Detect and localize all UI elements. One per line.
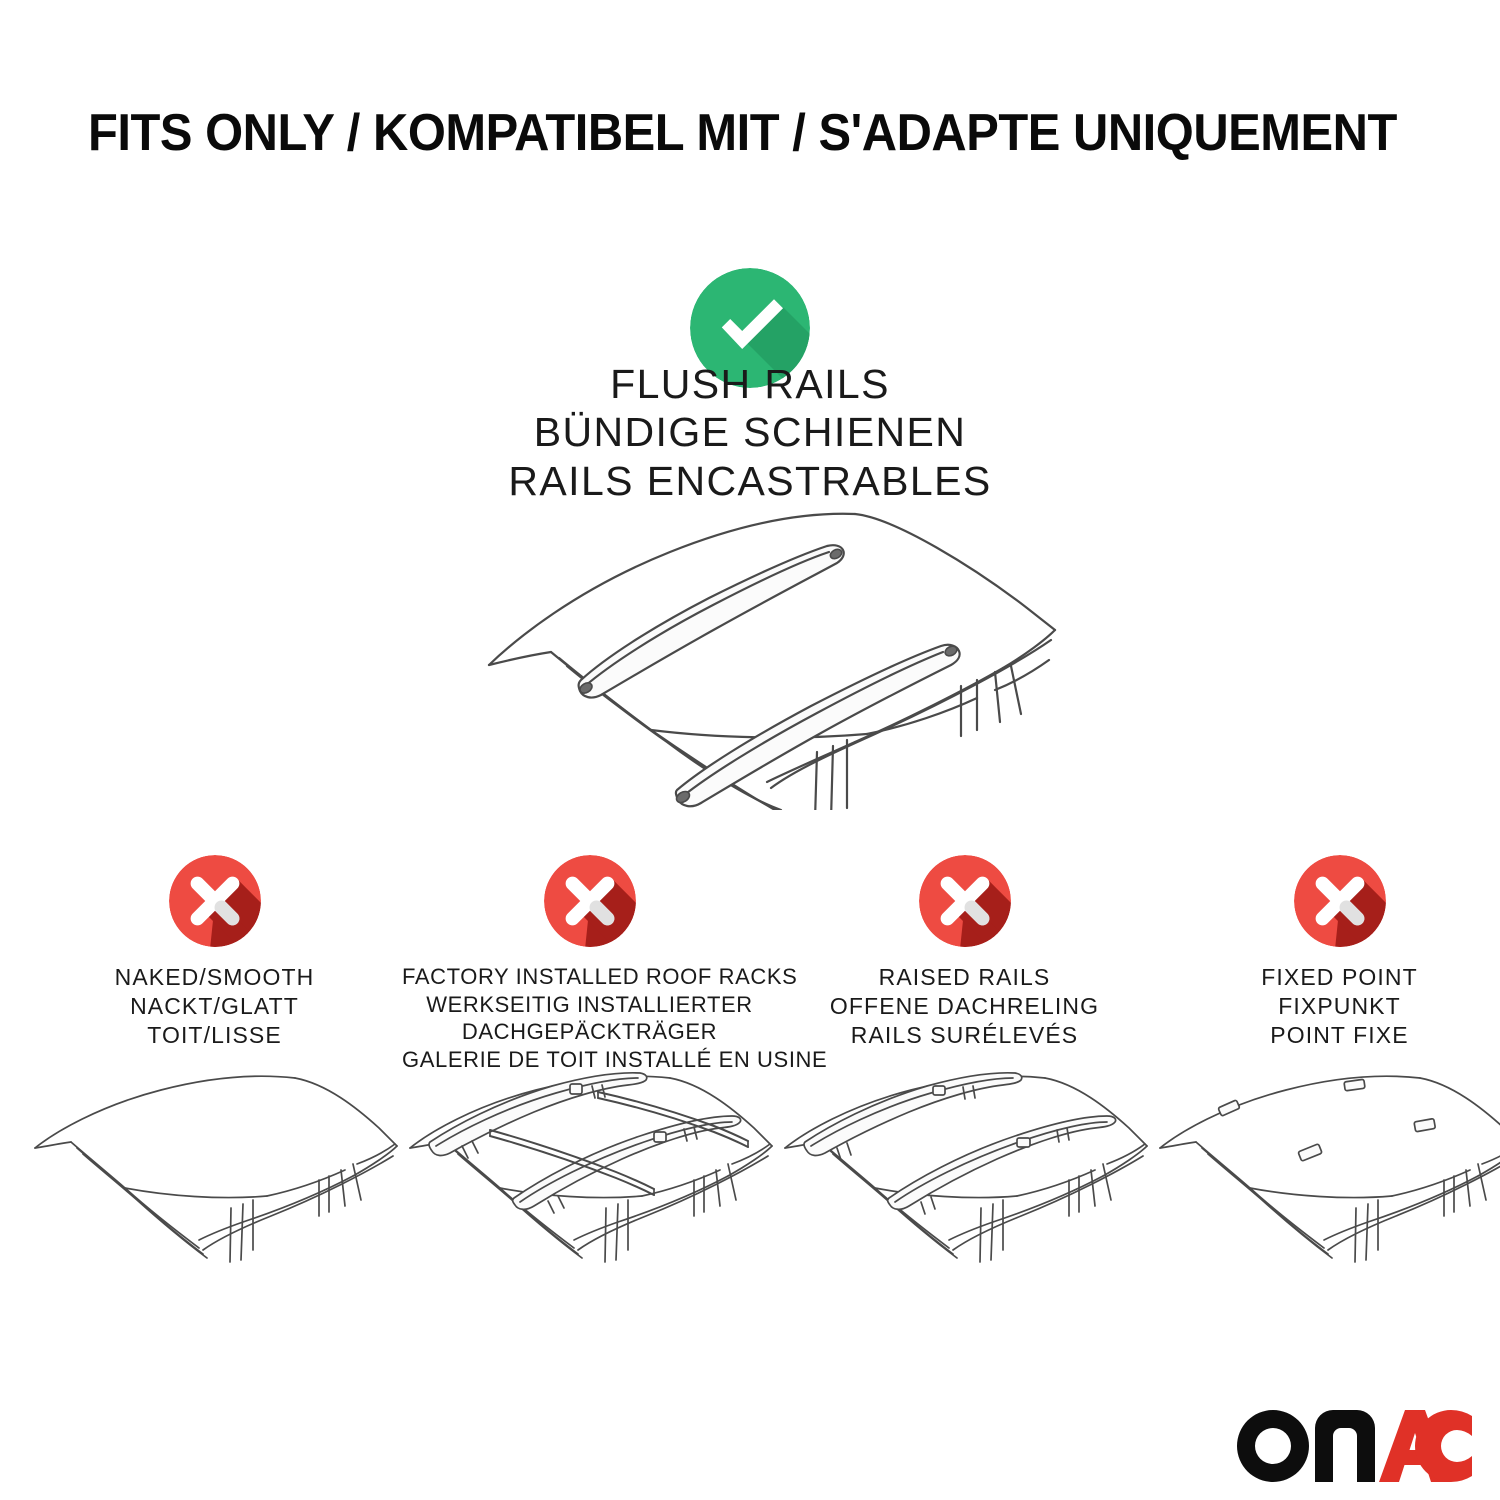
label-line-en: NAKED/SMOOTH [27,963,402,992]
label-line-en: RAISED RAILS [777,963,1152,992]
label-line-en: FACTORY INSTALLED ROOF RACKS [402,963,777,991]
car-roof-naked-smooth-illustration [27,1070,402,1300]
label-line-de: FIXPUNKT [1152,992,1500,1021]
incompatible-item-raised-rails: RAISED RAILS OFFENE DACHRELING RAILS SUR… [777,855,1152,1050]
fitment-infographic: FITS ONLY / KOMPATIBEL MIT / S'ADAPTE UN… [0,0,1500,1500]
car-roof-raised-rails-illustration [777,1070,1152,1300]
red-x-icon [169,855,261,947]
page-title: FITS ONLY / KOMPATIBEL MIT / S'ADAPTE UN… [88,106,1338,161]
red-x-icon [544,855,636,947]
incompatible-label-naked-smooth: NAKED/SMOOTH NACKT/GLATT TOIT/LISSE [27,963,402,1050]
incompatible-label-raised-rails: RAISED RAILS OFFENE DACHRELING RAILS SUR… [777,963,1152,1050]
incompatible-item-naked-smooth: NAKED/SMOOTH NACKT/GLATT TOIT/LISSE [27,855,402,1050]
incompatible-label-fixed-point: FIXED POINT FIXPUNKT POINT FIXE [1152,963,1500,1050]
compatible-label-en: FLUSH RAILS [250,360,1250,408]
incompatible-item-fixed-point: FIXED POINT FIXPUNKT POINT FIXE [1152,855,1500,1050]
omac-letter-m [1315,1410,1375,1482]
red-x-icon [1294,855,1386,947]
car-roof-flush-rails-illustration [455,490,1065,810]
incompatible-label-factory-roof-racks: FACTORY INSTALLED ROOF RACKS WERKSEITIG … [402,963,777,1074]
label-line-fr: TOIT/LISSE [27,1021,402,1050]
red-x-icon [919,855,1011,947]
omac-logo [1237,1410,1472,1482]
compatible-labels: FLUSH RAILS BÜNDIGE SCHIENEN RAILS ENCAS… [250,360,1250,505]
compatible-label-de: BÜNDIGE SCHIENEN [250,408,1250,456]
label-line-de2: DACHGEPÄCKTRÄGER [402,1018,777,1046]
car-roof-fixed-point-illustration [1152,1070,1500,1300]
incompatible-item-factory-roof-racks: FACTORY INSTALLED ROOF RACKS WERKSEITIG … [402,855,777,1074]
car-roof-factory-racks-illustration [402,1070,777,1300]
label-line-de: WERKSEITIG INSTALLIERTER [402,991,777,1019]
label-line-fr: POINT FIXE [1152,1021,1500,1050]
label-line-de: OFFENE DACHRELING [777,992,1152,1021]
label-line-fr: RAILS SURÉLEVÉS [777,1021,1152,1050]
omac-letter-o [1237,1410,1309,1482]
label-line-en: FIXED POINT [1152,963,1500,992]
label-line-de: NACKT/GLATT [27,992,402,1021]
